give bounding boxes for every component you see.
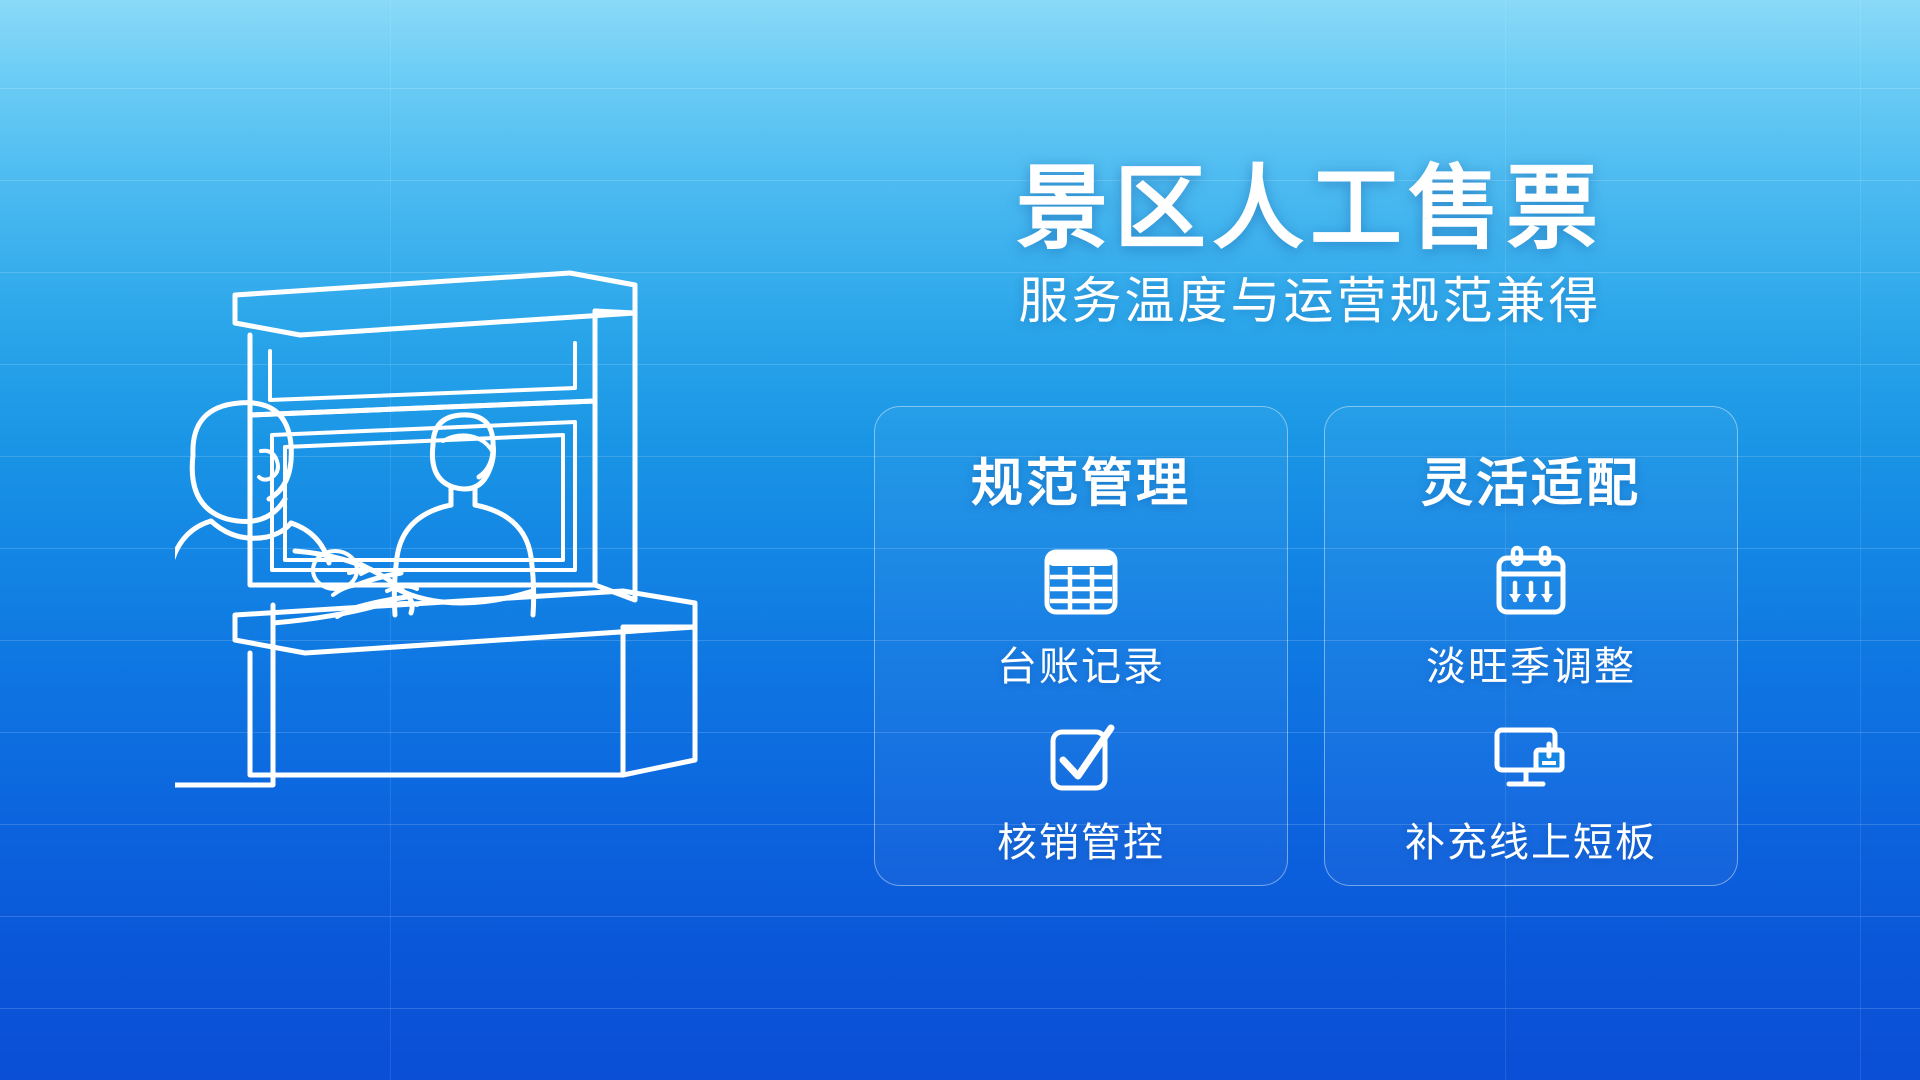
feature-online-supplement[interactable]: 补充线上短板 (1405, 718, 1657, 868)
feature-card-flexible[interactable]: 灵活适配 淡旺季调整 (1324, 406, 1738, 886)
page-title: 景区人工售票 (860, 160, 1760, 259)
feature-verification-control[interactable]: 核销管控 (997, 718, 1165, 868)
page-subtitle: 服务温度与运营规范兼得 (860, 273, 1760, 331)
ticket-booth-illustration (175, 255, 775, 795)
feature-season-adjust[interactable]: 淡旺季调整 (1426, 542, 1636, 692)
grid-line-horizontal (0, 1008, 1920, 1009)
feature-label-online-supplement: 补充线上短板 (1405, 810, 1657, 868)
grid-line-vertical (1860, 0, 1861, 1080)
poster-canvas: 景区人工售票 服务温度与运营规范兼得 规范管理 台账记录 (0, 0, 1920, 1080)
headline-block: 景区人工售票 服务温度与运营规范兼得 (860, 160, 1760, 331)
table-icon (1041, 542, 1121, 622)
feature-label-ledger-record: 台账记录 (997, 634, 1165, 692)
checkbox-check-icon (1041, 718, 1121, 798)
feature-label-season-adjust: 淡旺季调整 (1426, 634, 1636, 692)
calendar-down-arrows-icon (1491, 542, 1571, 622)
card-title-flexible: 灵活适配 (1421, 441, 1641, 516)
feature-ledger-record[interactable]: 台账记录 (997, 542, 1165, 692)
monitor-terminal-icon (1491, 718, 1571, 798)
card-title-standard: 规范管理 (971, 441, 1191, 516)
grid-line-horizontal (0, 916, 1920, 917)
feature-card-standard[interactable]: 规范管理 台账记录 (874, 406, 1288, 886)
feature-label-verification-control: 核销管控 (997, 810, 1165, 868)
grid-line-horizontal (0, 88, 1920, 89)
